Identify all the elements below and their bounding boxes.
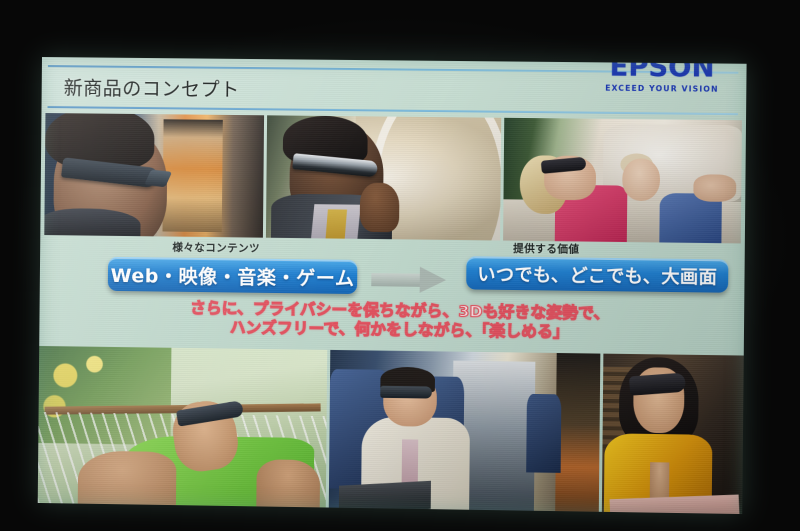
- right-caption: 提供する価値: [513, 241, 579, 257]
- photo-woman-in-yellow: [601, 354, 743, 514]
- value-proposition-pill: いつでも、どこでも、大画面: [466, 256, 728, 293]
- presentation-slide: 新商品のコンセプト EPSON EXCEED YOUR VISION: [38, 57, 747, 514]
- epson-tagline: EXCEED YOUR VISION: [586, 83, 739, 94]
- left-caption: 様々なコンテンツ: [172, 240, 260, 256]
- top-photo-row: [44, 113, 742, 243]
- highlight-text: さらに、プライバシーを保ちながら、3Dも好きな姿勢で、 ハンズフリーで、何かをし…: [97, 298, 703, 344]
- photo-man-in-vehicle: [44, 113, 264, 238]
- photo-businessman-on-plane: [266, 115, 501, 240]
- highlight-line-2: ハンズフリーで、何かをしながら、「楽しめる」: [97, 317, 703, 344]
- epson-wordmark: EPSON: [586, 57, 739, 82]
- photo-man-in-hammock: [38, 346, 327, 508]
- slide-title: 新商品のコンセプト: [64, 73, 240, 102]
- concept-band: 様々なコンテンツ Web・映像・音楽・ゲーム 提供する価値 いつでも、どこでも、…: [39, 235, 745, 357]
- bottom-photo-row: [38, 346, 744, 514]
- epson-logo: EPSON EXCEED YOUR VISION: [586, 57, 739, 94]
- slide-header: 新商品のコンセプト EPSON EXCEED YOUR VISION: [42, 57, 747, 116]
- content-types-pill: Web・映像・音楽・ゲーム: [108, 257, 358, 294]
- photo-woman-and-child-on-sofa: [503, 118, 742, 244]
- photo-man-on-train: [329, 350, 600, 512]
- projection-scene: 新商品のコンセプト EPSON EXCEED YOUR VISION: [0, 0, 800, 531]
- right-arrow-icon: [371, 267, 452, 292]
